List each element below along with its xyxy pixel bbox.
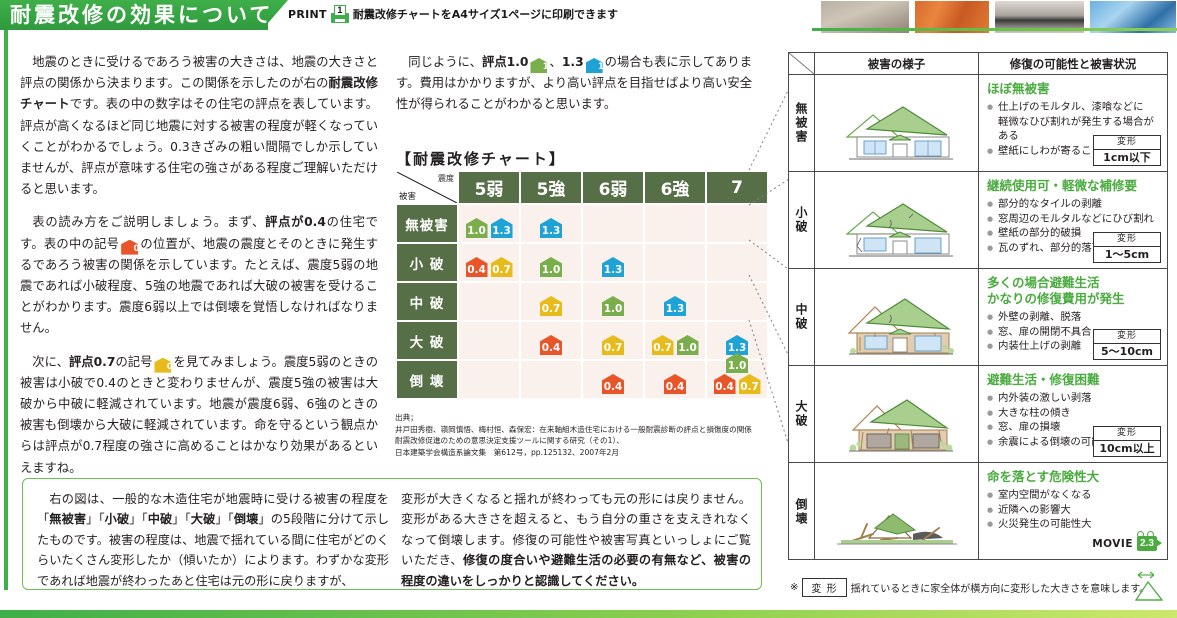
chart-col-header-3: 6強 — [645, 172, 705, 203]
damage-row-倒壊: 倒壊 命を落とす危険性大室内空間がなくなる近隣への影響大火災発生の可能性大MOV… — [789, 463, 1167, 560]
chart-cell-2-1: 0.7 — [521, 283, 581, 320]
bottom-green-bar — [0, 610, 1177, 618]
page-header: 耐震改修の効果について PRINT 1 耐震改修チャートをA4サイズ1ページに印… — [0, 0, 812, 30]
chart-cell-2-2: 1.0 — [583, 283, 643, 320]
paragraph-2: 表の読み方をご説明しましょう。まず、評点が0.4の住宅です。表の中の記号0.4の… — [20, 212, 378, 339]
chart-header-row: 震度 被害 5弱 5強 6弱 6強 7 — [397, 172, 767, 203]
damage-level-label-1: 小破 — [789, 172, 815, 268]
damage-item-list-4: 室内空間がなくなる近隣への影響大火災発生の可能性大 — [987, 488, 1161, 532]
chart-row-header-2: 中 破 — [397, 283, 457, 320]
body-column-right: 同じように、評点1.01.0、1.31.3の場合も表に示してあります。費用はかか… — [396, 52, 752, 128]
damage-level-label-4: 倒壊 — [789, 463, 815, 560]
chart-axis-x-label: 震度 — [438, 173, 454, 184]
score-badge-0.4: 0.4 — [602, 374, 624, 394]
damage-description-無被害: ほぼ無被害仕上げのモルタル、漆喰などに軽微なひび割れが発生する場合がある壁紙にし… — [979, 75, 1167, 171]
left-green-rule — [4, 30, 8, 590]
footnote-text: 揺れているときに家全体が横方向に変形した大きさを意味します。 — [851, 580, 1150, 595]
deformation-label: 変形 — [1094, 427, 1160, 441]
chart-row-0: 無被害1.01.31.3 — [397, 205, 767, 242]
deformation-value: 5〜10cm — [1094, 344, 1160, 359]
chart-cell-3-2: 0.7 — [583, 322, 643, 359]
explanation-paragraph-right: 変形が大きくなると揺れが終わっても元の形には戻りません。変形がある大きさを超える… — [401, 489, 751, 591]
damage-description-中破: 多くの場合避難生活かなりの修復費用が発生外壁の剥離、脱落窓、扉の開閉不具合内装仕… — [979, 269, 1167, 365]
source-citation: 出典； 井戸田秀樹、嶺岡慎悟、梅村恒、森保宏：在来軸組木造住宅における一般耐震診… — [395, 412, 755, 458]
damage-row-小破: 小破 継続使用可・軽微な補修要部分的なタイルの剥離窓周辺のモルタルなどにひび割れ… — [789, 172, 1167, 269]
score-badge-1.3: 1.3 — [491, 218, 513, 238]
chart-row-4: 倒 壊0.40.41.00.40.7 — [397, 361, 767, 398]
paragraph-4: 同じように、評点1.01.0、1.31.3の場合も表に示してあります。費用はかか… — [396, 52, 752, 116]
house-illustration-小破 — [815, 172, 979, 268]
footnote: ※ 変 形 揺れているときに家全体が横方向に変形した大きさを意味します。 — [790, 578, 1149, 597]
deformation-label: 変形 — [1094, 233, 1160, 247]
damage-table-header-appearance: 被害の様子 — [815, 53, 979, 74]
house-illustration-大破 — [815, 366, 979, 462]
damage-title-3: 避難生活・修復困難 — [987, 372, 1161, 388]
chart-cell-1-0: 0.40.7 — [459, 244, 519, 281]
deformation-box-1: 変形1〜5cm — [1093, 232, 1161, 263]
print-page-number: 1 — [334, 5, 346, 16]
score-badge-1.3: 1.3 — [540, 218, 562, 238]
inline-badge-13: 1.3 — [586, 58, 603, 73]
damage-title-2: 多くの場合避難生活かなりの修復費用が発生 — [987, 275, 1161, 307]
chart-cell-3-0 — [459, 322, 519, 359]
body-column-left: 地震のときに受けるであろう被害の大きさは、地震の大きさと評点の関係から決まります… — [20, 52, 378, 491]
damage-title-0: ほぼ無被害 — [987, 81, 1161, 97]
print-button[interactable]: PRINT 1 耐震改修チャートをA4サイズ1ページに印刷できます — [288, 5, 618, 23]
score-badge-1.3: 1.3 — [664, 296, 686, 316]
damage-description-倒壊: 命を落とす危険性大室内空間がなくなる近隣への影響大火災発生の可能性大MOVIE2… — [979, 463, 1167, 560]
movie-label: MOVIE — [1092, 538, 1133, 550]
damage-title-4: 命を落とす危険性大 — [987, 469, 1161, 485]
chart-row-2: 中 破0.71.01.3 — [397, 283, 767, 320]
deformation-box-2: 変形5〜10cm — [1093, 329, 1161, 360]
inline-badge-04: 0.4 — [121, 240, 138, 255]
damage-item: 窓周辺のモルタルなどにひび割れ — [987, 212, 1161, 227]
damage-level-table: 被害の様子 修復の可能性と被害状況 無被害 ほぼ無被害仕上げのモルタル、漆喰など… — [788, 52, 1168, 560]
score-badge-0.4: 0.4 — [714, 374, 736, 394]
chart-cell-0-0: 1.01.3 — [459, 205, 519, 242]
chart-row-header-4: 倒 壊 — [397, 361, 457, 398]
movie-link[interactable]: MOVIE2.3 — [1092, 534, 1161, 554]
score-badge-0.7: 0.7 — [602, 335, 624, 355]
damage-level-label-0: 無被害 — [789, 75, 815, 171]
score-badge-0.7: 0.7 — [540, 296, 562, 316]
chart-cell-1-3 — [645, 244, 705, 281]
deformation-value: 1〜5cm — [1094, 247, 1160, 262]
damage-row-中破: 中破 多くの場合避難生活かなりの修復費用が発生外壁の剥離、脱落窓、扉の開閉不具合… — [789, 269, 1167, 366]
source-line-2: 耐震改修促進のための意思決定支援ツールに関する研究（その1）、 — [395, 435, 755, 447]
damage-item: 大きな柱の傾き — [987, 406, 1161, 421]
chart-corner-cell: 震度 被害 — [397, 172, 457, 203]
damage-title-1: 継続使用可・軽微な補修要 — [987, 178, 1161, 194]
chart-row-1: 小 破0.40.71.01.3 — [397, 244, 767, 281]
damage-description-大破: 避難生活・修復困難内外装の激しい剥落大きな柱の傾き窓、扉の損壊余震による倒壊の可… — [979, 366, 1167, 462]
chart-axis-y-label: 被害 — [399, 190, 416, 202]
explanation-right: 変形が大きくなると揺れが終わっても元の形には戻りません。変形がある大きさを超える… — [401, 489, 751, 591]
damage-description-小破: 継続使用可・軽微な補修要部分的なタイルの剥離窓周辺のモルタルなどにひび割れ壁紙の… — [979, 172, 1167, 268]
damage-item: 部分的なタイルの剥離 — [987, 197, 1161, 212]
footnote-box-label: 変 形 — [802, 578, 846, 597]
chart-col-header-1: 5強 — [521, 172, 581, 203]
damage-level-label-3: 大破 — [789, 366, 815, 462]
damage-item: 外壁の剥離、脱落 — [987, 310, 1161, 325]
deformation-label: 変形 — [1094, 330, 1160, 344]
chart-col-header-0: 5弱 — [459, 172, 519, 203]
score-badge-0.4: 0.4 — [540, 335, 562, 355]
score-badge-1.0: 1.0 — [466, 218, 488, 238]
explanation-box: 右の図は、一般的な木造住宅が地震時に受ける被害の程度を「無被害」「小破」「中破」… — [22, 478, 762, 590]
damage-item: 室内空間がなくなる — [987, 488, 1161, 503]
chart-cell-4-1 — [521, 361, 581, 398]
footnote-mark: ※ — [790, 582, 798, 593]
print-label: PRINT — [288, 8, 327, 21]
score-badge-0.4: 0.4 — [664, 374, 686, 394]
score-badge-0.4: 0.4 — [466, 257, 488, 277]
chart-cell-1-1: 1.0 — [521, 244, 581, 281]
damage-table-header-repair: 修復の可能性と被害状況 — [979, 53, 1167, 74]
damage-level-label-2: 中破 — [789, 269, 815, 365]
inline-badge-10: 1.0 — [530, 58, 547, 73]
deformation-box-3: 変形10cm以上 — [1093, 426, 1161, 457]
source-line-1: 井戸田秀樹、嶺岡慎悟、梅村恒、森保宏：在来軸組木造住宅における一般耐震診断の評点… — [395, 424, 755, 436]
score-badge-0.7: 0.7 — [491, 257, 513, 277]
damage-table-rows: 無被害 ほぼ無被害仕上げのモルタル、漆喰などに軽微なひび割れが発生する場合がある… — [789, 75, 1167, 560]
chart-row-header-0: 無被害 — [397, 205, 457, 242]
damage-table-header: 被害の様子 修復の可能性と被害状況 — [789, 53, 1167, 75]
source-label: 出典； — [395, 412, 755, 424]
damage-row-大破: 大破 避難生活・修復困難内外装の激しい剥落大きな柱の傾き窓、扉の損壊余震による倒… — [789, 366, 1167, 463]
house-illustration-無被害 — [815, 75, 979, 171]
damage-item: 火災発生の可能性大 — [987, 517, 1161, 532]
chart-cell-4-2: 0.4 — [583, 361, 643, 398]
damage-item: 内外装の激しい剥落 — [987, 391, 1161, 406]
chart-cell-0-3 — [645, 205, 705, 242]
damage-table-corner — [789, 53, 815, 74]
chart-cell-2-3: 1.3 — [645, 283, 705, 320]
header-divider-rule — [812, 28, 1177, 31]
score-badge-1.0: 1.0 — [540, 257, 562, 277]
source-line-3: 日本建築学会構造系論文集 第612号，pp.125132、2007年2月 — [395, 447, 755, 459]
chart-row-header-1: 小 破 — [397, 244, 457, 281]
damage-row-無被害: 無被害 ほぼ無被害仕上げのモルタル、漆喰などに軽微なひび割れが発生する場合がある… — [789, 75, 1167, 172]
score-badge-1.0: 1.0 — [602, 296, 624, 316]
chart-cell-3-3: 0.71.0 — [645, 322, 705, 359]
damage-item: 近隣への影響大 — [987, 503, 1161, 518]
chart-cell-3-1: 0.4 — [521, 322, 581, 359]
chart-cell-2-0 — [459, 283, 519, 320]
inline-badge-07: 0.7 — [154, 358, 171, 373]
house-illustration-中破 — [815, 269, 979, 365]
chart-col-header-2: 6弱 — [583, 172, 643, 203]
paragraph-3: 次に、評点0.7の記号0.7を見てみましょう。震度5弱のときの被害は小破で0.4… — [20, 352, 378, 479]
chart-row-header-3: 大 破 — [397, 322, 457, 359]
page-title: 耐震改修の効果について — [10, 3, 273, 27]
explanation-paragraph-left: 右の図は、一般的な木造住宅が地震時に受ける被害の程度を「無被害」「小破」「中破」… — [37, 489, 389, 591]
score-badge-0.7: 0.7 — [652, 335, 674, 355]
house-illustration-倒壊 — [815, 463, 979, 560]
chart-cell-4-0 — [459, 361, 519, 398]
score-badge-1.0: 1.0 — [677, 335, 699, 355]
print-description: 耐震改修チャートをA4サイズ1ページに印刷できます — [353, 6, 618, 22]
printer-icon: 1 — [331, 5, 349, 23]
video-camera-icon: 2.3 — [1135, 534, 1161, 554]
deformation-value: 10cm以上 — [1094, 441, 1160, 456]
deformation-label: 変形 — [1094, 136, 1160, 150]
explanation-left: 右の図は、一般的な木造住宅が地震時に受ける被害の程度を「無被害」「小破」「中破」… — [37, 489, 389, 591]
chart-cell-1-2: 1.3 — [583, 244, 643, 281]
deformation-value: 1cm以下 — [1094, 150, 1160, 165]
chart-cell-0-1: 1.3 — [521, 205, 581, 242]
chart-body: 無被害1.01.31.3小 破0.40.71.01.3中 破0.71.01.3大… — [397, 205, 767, 398]
chart-cell-0-2 — [583, 205, 643, 242]
footnote-house-icon — [1128, 570, 1168, 604]
damage-item: 仕上げのモルタル、漆喰などに — [987, 100, 1161, 115]
chart-cell-4-3: 0.4 — [645, 361, 705, 398]
deformation-box-0: 変形1cm以下 — [1093, 135, 1161, 166]
score-badge-1.3: 1.3 — [602, 257, 624, 277]
paragraph-1: 地震のときに受けるであろう被害の大きさは、地震の大きさと評点の関係から決まります… — [20, 52, 378, 200]
seismic-retrofit-chart: 震度 被害 5弱 5強 6弱 6強 7 無被害1.01.31.3小 破0.40.… — [395, 170, 769, 400]
chart-title: 【耐震改修チャート】 — [396, 148, 566, 169]
